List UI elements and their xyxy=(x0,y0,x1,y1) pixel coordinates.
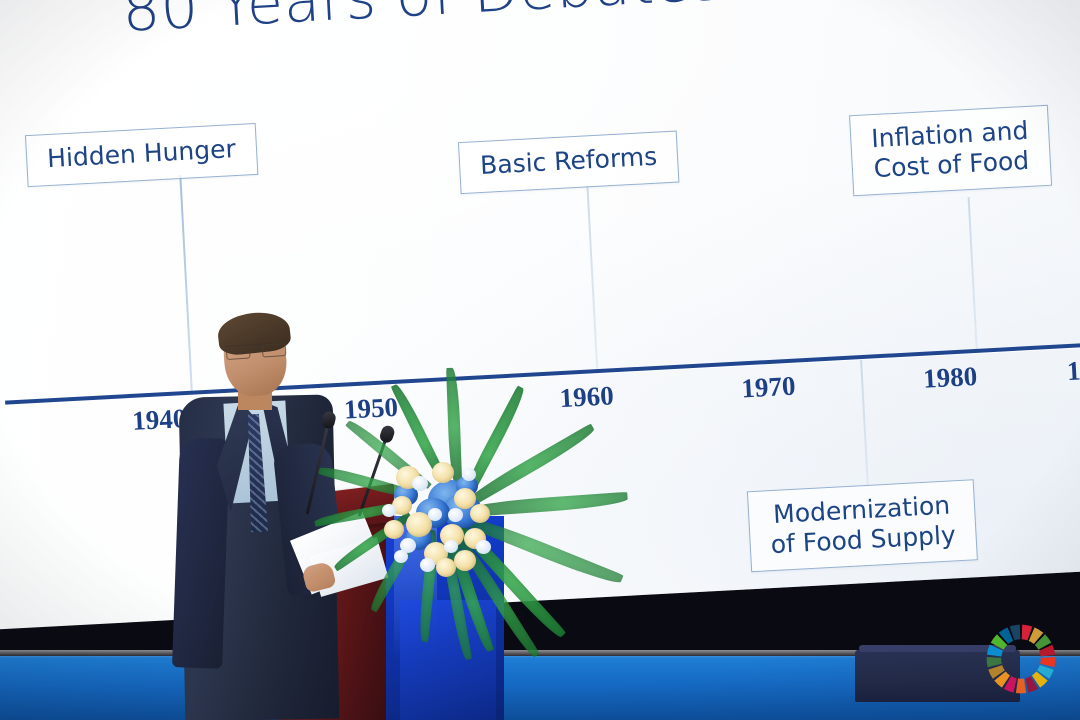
white-bloom xyxy=(462,468,476,481)
white-bloom xyxy=(476,540,491,554)
node-line: Basic Reforms xyxy=(479,142,657,181)
rose-bloom xyxy=(432,462,454,483)
white-bloom xyxy=(444,540,458,553)
rose-bloom xyxy=(436,558,456,577)
connector-basic-reforms xyxy=(586,185,598,371)
rose-bloom xyxy=(384,520,404,539)
white-bloom xyxy=(382,504,396,517)
rose-bloom xyxy=(470,504,490,523)
year-label-1980: 1980 xyxy=(922,361,978,395)
white-bloom xyxy=(420,558,435,572)
node-line: Hidden Hunger xyxy=(46,134,236,173)
slide-title: 80 Years of Debates on Food xyxy=(121,0,982,45)
node-hidden-hunger: Hidden Hunger xyxy=(25,123,258,187)
node-inflation-cost: Inflation and Cost of Food xyxy=(849,105,1052,196)
rose-bloom xyxy=(454,550,476,571)
node-modernization: Modernization of Food Supply xyxy=(747,479,978,572)
connector-inflation-cost xyxy=(968,197,978,351)
timeline-axis xyxy=(5,337,1080,405)
node-basic-reforms: Basic Reforms xyxy=(458,131,680,194)
screenshot-root: 80 Years of Debates on Food 1940 1950 19… xyxy=(0,0,1080,720)
flower-arrangement xyxy=(336,432,604,700)
white-bloom xyxy=(394,550,408,563)
sdg-wheel-icon xyxy=(978,616,1064,702)
year-label-1970: 1970 xyxy=(741,371,797,405)
white-bloom xyxy=(428,508,442,521)
white-bloom xyxy=(412,476,428,491)
white-bloom xyxy=(448,508,463,522)
year-label-1960: 1960 xyxy=(559,380,615,414)
connector-modernization xyxy=(860,359,869,487)
year-label-1990: 199 xyxy=(1066,354,1080,387)
